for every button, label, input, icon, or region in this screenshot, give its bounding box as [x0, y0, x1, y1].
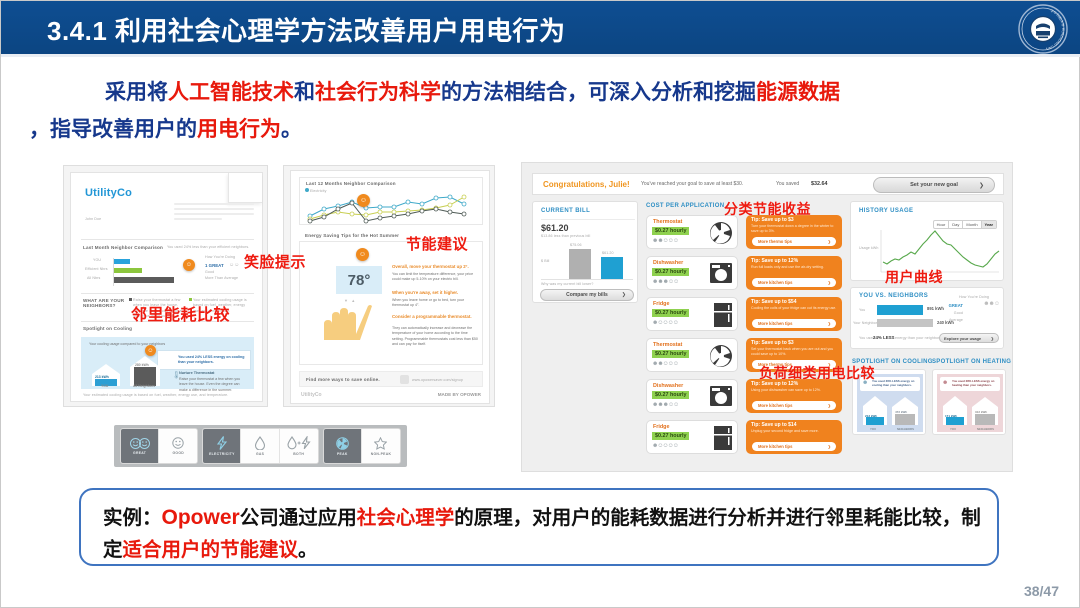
- appliance-name: Thermostat: [653, 342, 682, 348]
- spotlight-heating-card: You used 28% LESS energy on heating than…: [932, 369, 1006, 435]
- tip-button-label: More kitchen tips: [758, 321, 792, 326]
- icon-label: BOTH: [293, 452, 304, 456]
- heating-note: You used 28% LESS energy on heating than…: [952, 379, 998, 387]
- set-new-goal-label: Set your new goal: [910, 182, 958, 188]
- icon-label: GREAT: [133, 451, 146, 455]
- cooling-nb-label: NEIGHBORS: [897, 427, 914, 431]
- report-footer-bar: Find more ways to save online. www.opowe…: [299, 371, 483, 387]
- appliance-rate: $0.27 hourly: [652, 309, 689, 317]
- conclusion-seg-4: 适合用户的节能建议: [123, 539, 299, 561]
- appliance-name: Dishwasher: [653, 260, 683, 266]
- house-neighbors-value: 280 kWh: [135, 363, 149, 367]
- tip-body: Run full loads only and use the air-dry …: [751, 265, 837, 270]
- tip2-head: When you're away, set it higher.: [392, 290, 478, 295]
- icon-group-fuel[interactable]: ELECTRICITY GAS BOTH: [202, 428, 318, 464]
- icon-label: GAS: [256, 452, 264, 456]
- current-bill-bar-chart: $75.06 $61.20 $ Bill: [541, 242, 633, 280]
- tab-month[interactable]: Month: [963, 221, 981, 228]
- cooling-callout-box: You used 24% LESS energy on cooling than…: [157, 350, 251, 370]
- cost-per-application-title: COST PER APPLICATION: [646, 203, 724, 209]
- congrats-body-1: You've reached your goal to save at leas…: [641, 181, 743, 187]
- smiley-badge-icon: ☺: [183, 259, 195, 271]
- current-bill-card: CURRENT BILL $61.20 $13.86 less than pre…: [532, 201, 638, 303]
- tip-button-label: More kitchen tips: [758, 403, 792, 408]
- intro-seg-8: 用电行为: [197, 118, 281, 141]
- appliance-name: Thermostat: [653, 219, 682, 225]
- summer-tips-card: ☺ 78° ▼ ▲ Overall, move your thermostat …: [299, 241, 483, 365]
- twelve-month-chart-title: Last 12 Months Neighbor Comparison: [306, 181, 396, 186]
- list-item[interactable]: Dishwasher $0.27 hourly ☻☻☻☺☺ Tip: Save …: [646, 379, 842, 415]
- conclusion-seg-5: 。: [298, 539, 318, 561]
- appliance-rate: $0.27 hourly: [652, 432, 689, 440]
- icon-label: NON-PEAK: [371, 452, 391, 456]
- report-faint-lines: [174, 203, 254, 220]
- icon-group-rating[interactable]: GREAT GOOD: [120, 428, 198, 464]
- lightning-bolt-icon: [216, 436, 228, 450]
- list-item[interactable]: Dishwasher $0.27 hourly ☻☻☻☺☺ Tip: Save …: [646, 256, 842, 292]
- smiley-face-icon: [172, 437, 184, 449]
- chevron-right-icon: ❯: [828, 280, 831, 285]
- tab-day[interactable]: Day: [949, 221, 963, 228]
- tip-button[interactable]: More thermo tips ❯: [752, 237, 836, 246]
- icon-label: GOOD: [172, 451, 184, 455]
- congrats-amount: $32.64: [811, 181, 828, 187]
- you-vs-neighbors-card: YOU VS. NEIGHBORS You 891 kWh Your Neigh…: [850, 287, 1004, 349]
- conclusion-seg-1: 公司通过应用: [240, 507, 357, 529]
- tip1-head: Overall, move your thermostat up 2°.: [392, 264, 478, 269]
- cooling-tip-title: Nurture Thermostat: [179, 371, 214, 375]
- appliance-name: Fridge: [653, 424, 669, 430]
- tip-body: Cooling the coils of your fridge can cut…: [751, 306, 837, 311]
- intro-seg-7: ，指导改善用户的: [29, 118, 197, 141]
- chevron-right-icon: ❯: [828, 321, 831, 326]
- rank-smiley-row: ☺☺: [229, 262, 239, 268]
- status-icon-toolbar[interactable]: GREAT GOOD ELECTRICITY: [114, 425, 407, 467]
- tip-title: Tip: Save up to 12%: [751, 258, 798, 264]
- opower-url[interactable]: www.opowersaver.com/signup: [412, 378, 463, 383]
- dishwasher-icon: [709, 385, 733, 407]
- icon-label: ELECTRICITY: [209, 452, 235, 456]
- neighbors-nb-label: Your Neighbors: [853, 321, 879, 326]
- house-you-icon: [862, 394, 888, 426]
- current-bill-note: $13.86 less than previous bill: [541, 234, 633, 239]
- thermostat-readout: 78°: [336, 266, 382, 294]
- tip1-body: You can limit the temperature difference…: [392, 272, 478, 283]
- tip2-body: When you leave home or go to bed, turn y…: [392, 298, 478, 309]
- neighbors-you-label: You: [859, 308, 865, 313]
- neighbors-you-value: 891 kWh: [927, 306, 944, 311]
- icon-cell-non-peak[interactable]: NON-PEAK: [362, 429, 400, 463]
- list-item[interactable]: Fridge $0.27 hourly ☻☺☺☺☺ Tip: Save up t…: [646, 297, 842, 333]
- summer-tips-title: Energy Saving Tips for the Hot Summer: [305, 233, 399, 238]
- conclusion-label: 实例：: [103, 507, 162, 529]
- conclusion-seg-2: 社会心理学: [357, 507, 455, 529]
- slide-root: 3.4.1 利用社会心理学方法改善用户用电行为 华中科技大学 HUAZHONG …: [0, 0, 1080, 608]
- page-title: 3.4.1 利用社会心理学方法改善用户用电行为: [47, 11, 566, 48]
- fridge-icon: [713, 425, 733, 451]
- last-month-comparison-note: You used 24% less than your efficient ne…: [167, 245, 257, 250]
- appliance-list: Thermostat $0.27 hourly ☻☻☺☺☺ Tip: Save …: [646, 215, 842, 456]
- chevron-right-icon: ❯: [828, 403, 831, 408]
- compare-my-bills-label: Compare my bills: [566, 292, 608, 298]
- conclusion-text: 实例：Opower公司通过应用社会心理学的原理，对用户的能耗数据进行分析并进行邻…: [103, 501, 983, 567]
- rank-average: More Than Average: [205, 276, 238, 281]
- tip-body: Turn your thermostat down a degree in th…: [751, 224, 837, 234]
- bar-label-current: $61.20: [602, 251, 614, 256]
- heating-you-label: YOU: [950, 427, 956, 431]
- cooling-callout-panel: Your cooling usage compared to your neig…: [81, 337, 254, 389]
- twelve-month-line-chart: [304, 194, 480, 224]
- divider: [541, 219, 635, 220]
- icon-group-period[interactable]: PEAK NON-PEAK: [323, 428, 401, 464]
- face-rating-icon: ☻☻☺☺☺: [652, 238, 678, 244]
- icon-label: PEAK: [337, 452, 348, 456]
- utilityco-brand: UtilityCo: [85, 187, 132, 199]
- report-footer-note: Your estimated cooling usage is based on…: [83, 393, 253, 398]
- explore-usage-label: Explore your usage: [944, 336, 981, 341]
- face-rating-icon: ☻☻☺☺☺: [652, 361, 678, 367]
- face-rating-icon: ☻☻☻☺☺: [652, 402, 678, 408]
- you-vs-neighbors-title: YOU VS. NEIGHBORS: [859, 293, 928, 299]
- how-youre-doing-title: How You're Doing: [205, 255, 235, 260]
- set-new-goal-button[interactable]: Set your new goal ❯: [873, 177, 995, 193]
- appliance-rate: $0.27 hourly: [652, 268, 689, 276]
- cooling-you-value: 213 kWh: [865, 414, 877, 418]
- chevron-right-icon: ❯: [622, 292, 626, 298]
- heating-nb-value: 312 kWh: [975, 410, 987, 414]
- tip-button-label: More kitchen tips: [758, 280, 792, 285]
- divider: [81, 239, 254, 240]
- appliance-name: Fridge: [653, 301, 669, 307]
- last-month-comparison-title: Last Month Neighbor Comparison: [83, 245, 163, 250]
- house-neighbors-icon: [129, 355, 161, 387]
- appliance-name: Dishwasher: [653, 383, 683, 389]
- annotation-neighbor-compare: 邻里能耗比较: [131, 301, 230, 325]
- tip-button[interactable]: More kitchen tips ❯: [752, 442, 836, 451]
- tip-body: Set your thermostat back when you are ou…: [751, 347, 837, 357]
- icon-cell-good[interactable]: GOOD: [159, 429, 197, 463]
- icon-cell-peak[interactable]: PEAK: [324, 429, 362, 463]
- spotlight-on-cooling-title: Spotlight on Cooling: [83, 326, 132, 331]
- current-bill-amount: $61.20: [541, 223, 569, 233]
- rank-faces-icon: ☻☻☺: [983, 301, 999, 307]
- tip-title: Tip: Save up to $14: [751, 422, 796, 428]
- intro-seg-6: 能源数据: [756, 81, 840, 104]
- rank-average: Average: [949, 318, 963, 323]
- intro-seg-5: 的方法相结合，可深入分析和挖掘: [441, 81, 756, 104]
- cooling-nb-value: 472 kWh: [895, 410, 907, 414]
- tip-button[interactable]: More kitchen tips ❯: [752, 319, 836, 328]
- tip-button-label: More thermo tips: [758, 239, 792, 244]
- heating-you-value: 171 kWh: [945, 414, 957, 418]
- neighbors-nb-bar: [877, 319, 933, 327]
- heating-nb-label: NEIGHBORS: [977, 427, 994, 431]
- intro-seg-2: 人工智能技术: [168, 81, 294, 104]
- page-curl-decor: [228, 173, 262, 203]
- report-sheet-2: Last 12 Months Neighbor Comparison Elect…: [290, 170, 490, 404]
- find-more-link[interactable]: Find more ways to save online.: [306, 377, 380, 382]
- list-item[interactable]: Fridge $0.27 hourly ☻☺☺☺☺ Tip: Save up t…: [646, 420, 842, 456]
- rank-good: Good: [954, 311, 963, 316]
- explore-usage-button[interactable]: Explore your usage ❯: [939, 333, 999, 343]
- tab-year[interactable]: Year: [982, 221, 996, 228]
- neighbors-note-pct: 24% LESS: [873, 335, 894, 340]
- current-bill-title: CURRENT BILL: [541, 208, 590, 214]
- house-you-icon: [942, 394, 968, 426]
- chevron-right-icon: ❯: [979, 182, 984, 189]
- face-rating-icon: ☻☺☺☺☺: [652, 320, 678, 326]
- icon-cell-both[interactable]: BOTH: [280, 429, 318, 463]
- utilityco-report-mid-panel: Last 12 Months Neighbor Comparison Elect…: [283, 165, 495, 407]
- tip-title: Tip: Save up to $54: [751, 299, 796, 305]
- neighbor-bar-chart: YOU Efficient Nbrs All Nbrs: [85, 257, 175, 287]
- bar-label-previous: $75.06: [570, 243, 582, 248]
- house-you-value: 213 kWh: [95, 375, 109, 379]
- cooling-callout-text: You used 24% LESS energy on cooling than…: [178, 355, 248, 366]
- fridge-icon: [713, 302, 733, 328]
- chevron-right-icon: ❯: [991, 336, 994, 341]
- page-number: 38/47: [1024, 583, 1059, 599]
- tips-smiley-badge-icon: ☺: [356, 248, 369, 261]
- spotlight-heating-title: SPOTLIGHT ON HEATING: [932, 359, 1011, 365]
- congratulations-bar: Congratulations, Julie! You've reached y…: [532, 173, 1004, 195]
- tab-hour[interactable]: Hour: [934, 221, 950, 228]
- current-bill-why: Why was my current bill lower?: [541, 282, 633, 287]
- annotation-saving-advice: 节能建议: [406, 233, 468, 254]
- intro-seg-3: 和: [294, 81, 315, 104]
- twelve-month-chart-card: Last 12 Months Neighbor Comparison Elect…: [299, 177, 483, 225]
- cooling-tip-body: Raise your thermostat a few when you lea…: [179, 377, 245, 393]
- thermometer-icon: 🌡: [172, 371, 181, 379]
- slide-header: 3.4.1 利用社会心理学方法改善用户用电行为 华中科技大学 HUAZHONG …: [1, 1, 1080, 57]
- intro-seg-9: 。: [281, 118, 302, 141]
- congrats-body-2: You saved: [776, 181, 799, 187]
- history-usage-title: HISTORY USAGE: [859, 208, 913, 214]
- utilityco-footer-brand: UtilityCo: [301, 392, 322, 398]
- history-axis-label: Usage kWh: [859, 246, 878, 251]
- dishwasher-icon: [709, 262, 733, 284]
- thermostat-fan-icon: [709, 344, 733, 368]
- intro-paragraph: 采用将人工智能技术和社会行为科学的方法相结合，可深入分析和挖掘能源数据 ，指导改…: [29, 77, 1059, 146]
- house-neighbors-label: All Neighbors: [133, 384, 155, 388]
- intro-seg-1: 采用将: [105, 81, 168, 104]
- compare-my-bills-button[interactable]: Compare my bills ❯: [540, 289, 634, 301]
- tip-body: Using your dishwasher can save up to 12%…: [751, 388, 837, 393]
- tip3-body: They can automatically increase and decr…: [392, 326, 478, 348]
- tip-button-label: More kitchen tips: [758, 444, 792, 449]
- face-rating-icon: ☻☺☺☺☺: [652, 443, 678, 449]
- neighbors-note-2: energy than your neighbors.: [895, 336, 942, 341]
- cooling-lead: Your cooling usage compared to your neig…: [89, 342, 169, 347]
- annotation-user-curve: 用户曲线: [885, 267, 943, 287]
- smiley-face-icon: ☻: [942, 380, 948, 386]
- chevron-right-icon: ❯: [828, 444, 831, 449]
- annotation-smiley-hint: 笑脸提示: [244, 251, 306, 272]
- fan-peak-icon: [336, 437, 349, 450]
- what-are-neighbors-title: WHAT ARE YOUR NEIGHBORS?: [83, 298, 125, 308]
- annotation-category-saving-benefit: 分类节能收益: [724, 199, 811, 219]
- cooling-note: You used 36% LESS energy on cooling than…: [872, 379, 918, 387]
- two-smiley-faces-icon: [130, 438, 150, 449]
- hand-pointing-icon: [316, 302, 372, 342]
- droplet-plus-bolt-icon: [287, 436, 311, 450]
- house-you-label: YOU: [101, 384, 108, 388]
- tip-title: Tip: Save up to $3: [751, 340, 794, 346]
- chart-smiley-badge-icon: ☺: [357, 194, 370, 207]
- conclusion-box: 实例：Opower公司通过应用社会心理学的原理，对用户的能耗数据进行分析并进行邻…: [79, 488, 999, 566]
- rank-value: 1 GREAT: [205, 263, 224, 268]
- rank-great: GREAT: [949, 303, 963, 308]
- face-rating-icon: ☻☻☻☺☺: [652, 279, 678, 285]
- legend-dot: [305, 188, 309, 192]
- intro-seg-4: 社会行为科学: [315, 81, 441, 104]
- appliance-rate: $0.27 hourly: [652, 227, 689, 235]
- icon-cell-electricity[interactable]: ELECTRICITY: [203, 429, 241, 463]
- list-item[interactable]: Thermostat $0.27 hourly ☻☻☺☺☺ Tip: Save …: [646, 215, 842, 251]
- rank-good: Good: [205, 270, 214, 275]
- flame-droplet-icon: [254, 436, 266, 450]
- hust-university-seal-logo: 华中科技大学 HUAZHONG UNIV: [1017, 3, 1069, 55]
- tip-button[interactable]: More kitchen tips ❯: [752, 278, 836, 287]
- star-icon: [374, 437, 387, 450]
- utilityco-report-left-panel: UtilityCo John Doe Last Month Neighbor C…: [63, 165, 268, 407]
- appliance-rate: $0.27 hourly: [652, 350, 689, 358]
- globe-icon: [400, 375, 409, 384]
- icon-cell-great[interactable]: GREAT: [121, 429, 159, 463]
- thermostat-value: 78°: [348, 272, 371, 289]
- rank-title: How You're Doing: [959, 295, 989, 300]
- conclusion-brand: Opower: [162, 506, 240, 529]
- tip-body: Unplug your second fridge and save more.: [751, 429, 837, 434]
- made-by-opower: MADE BY OPOWER: [438, 392, 481, 397]
- chevron-right-icon: ❯: [828, 239, 831, 244]
- annotation-load-category-compare: 负荷细类用电比较: [759, 363, 875, 383]
- thermostat-fan-icon: [709, 221, 733, 245]
- tip3-head: Consider a programmable thermostat.: [392, 314, 478, 319]
- icon-cell-gas[interactable]: GAS: [241, 429, 279, 463]
- neighbors-you-bar: [877, 305, 923, 315]
- tip-button[interactable]: More kitchen tips ❯: [752, 401, 836, 410]
- cooling-you-label: YOU: [870, 427, 876, 431]
- report-addressee: John Doe: [85, 217, 101, 222]
- appliance-rate: $0.27 hourly: [652, 391, 689, 399]
- congrats-title: Congratulations, Julie!: [543, 180, 630, 189]
- divider: [81, 293, 254, 294]
- report-sheet: UtilityCo John Doe Last Month Neighbor C…: [70, 172, 263, 402]
